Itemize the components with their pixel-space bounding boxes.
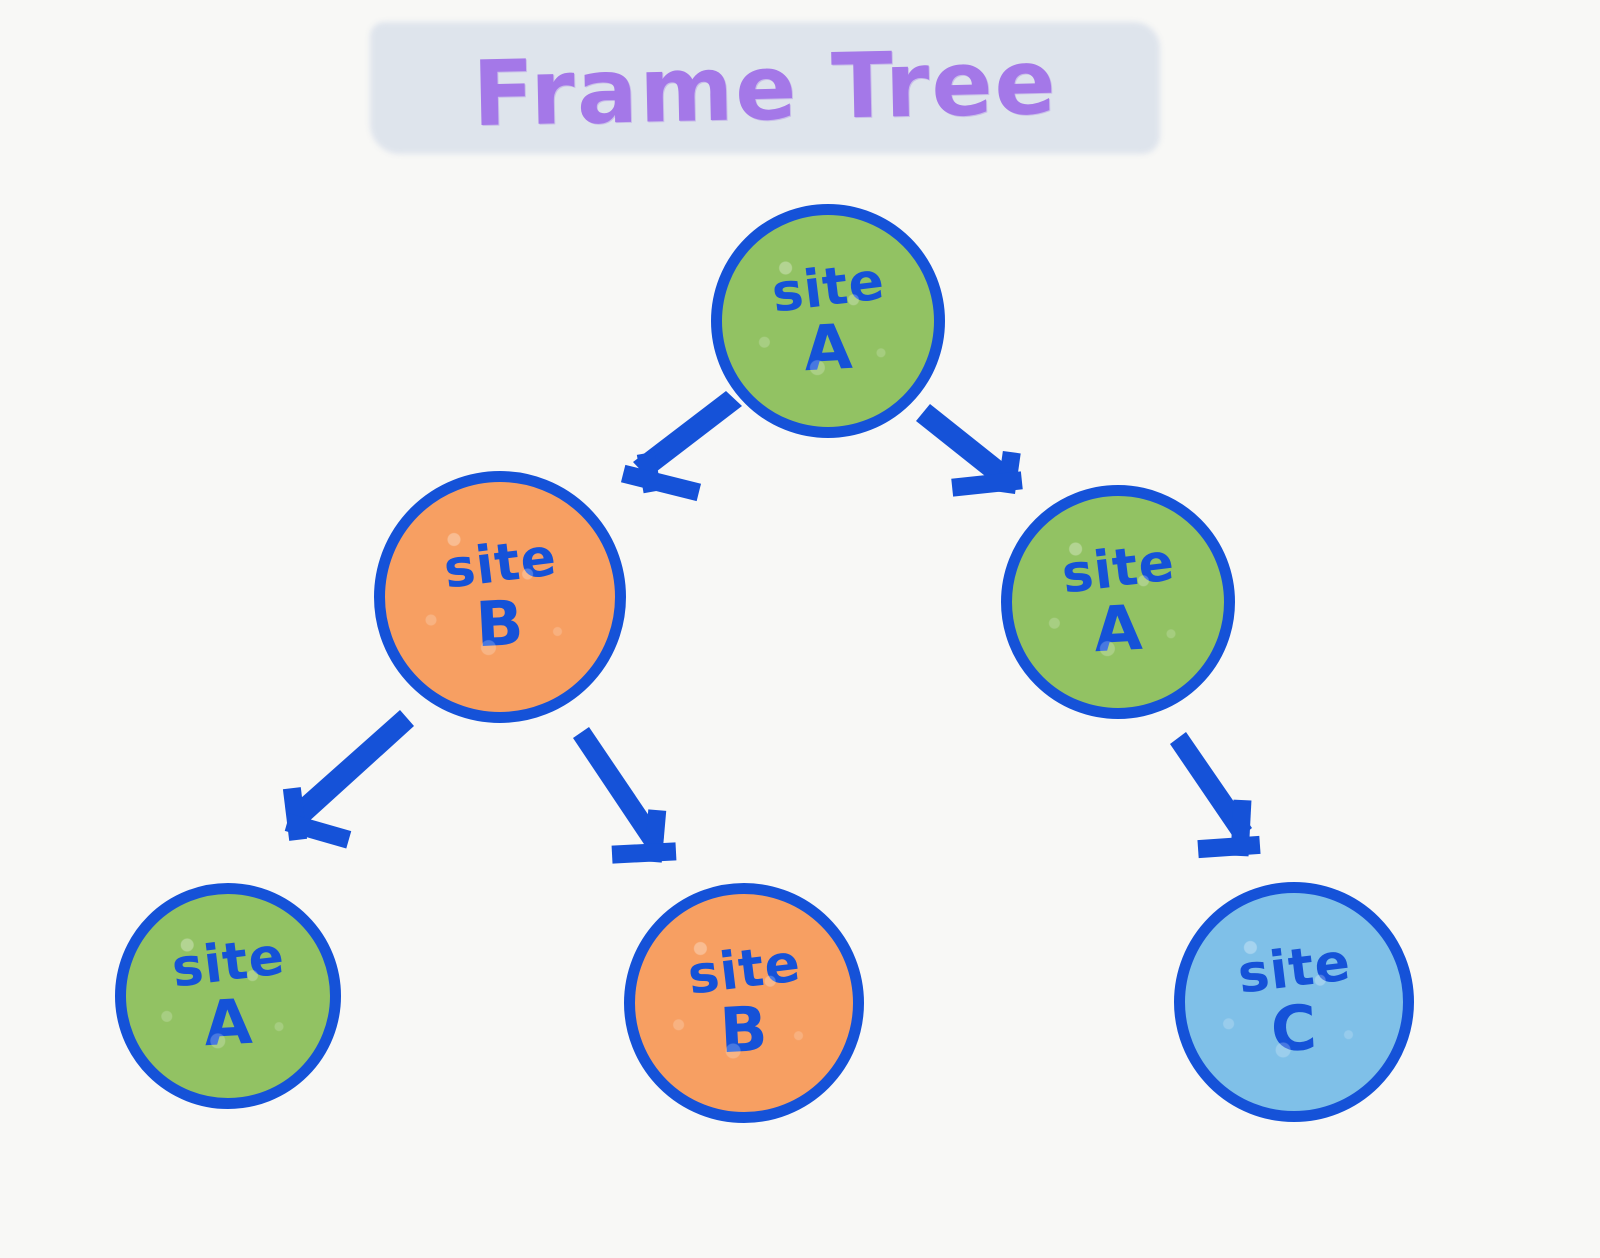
node-label-letter: A xyxy=(1092,598,1143,660)
edge-arrow-b1-to-a2 xyxy=(283,710,414,848)
node-label-letter: A xyxy=(802,317,853,379)
page-title: Frame Tree xyxy=(369,14,1162,163)
node-label-letter: B xyxy=(719,999,769,1061)
edge-arrow-root-to-a1 xyxy=(916,404,1023,497)
edge-arrow-root-to-b1 xyxy=(621,391,742,501)
node-label-letter: A xyxy=(202,992,253,1054)
node-b1-site-b[interactable]: site B xyxy=(374,471,626,723)
edge-arrow-b1-to-b2 xyxy=(573,727,676,864)
node-b2-site-b[interactable]: site B xyxy=(624,883,864,1123)
node-label-letter: C xyxy=(1270,998,1319,1060)
node-c1-site-c[interactable]: site C xyxy=(1174,882,1414,1122)
node-label-letter: B xyxy=(475,593,525,655)
node-a1-site-a[interactable]: site A xyxy=(1001,485,1235,719)
node-root-site-a[interactable]: site A xyxy=(711,204,945,438)
node-a2-site-a[interactable]: site A xyxy=(115,883,341,1109)
edge-arrow-a1-to-c1 xyxy=(1170,732,1261,858)
diagram-canvas: Frame Tree xyxy=(0,0,1600,1258)
